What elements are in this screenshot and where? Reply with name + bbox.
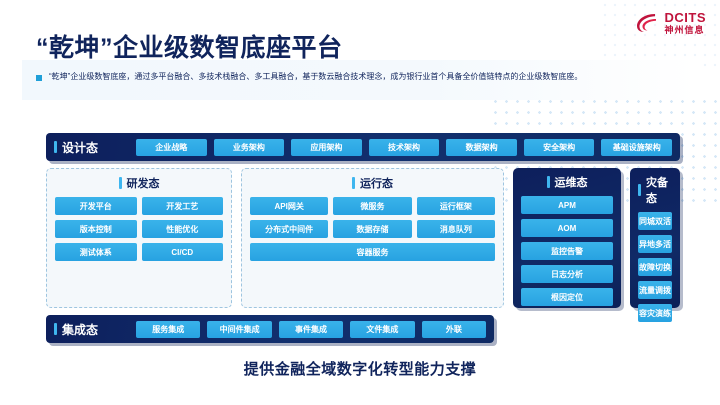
dev-panel-grid: 开发平台 开发工艺 版本控制 性能优化 测试体系 CI/CD bbox=[55, 197, 223, 261]
accent-tick-icon bbox=[54, 141, 57, 153]
dr-panel-stack: 同城双活 异地多活 故障切换 流量调拨 容灾演练 bbox=[638, 212, 672, 322]
dr-cell-0[interactable]: 同城双活 bbox=[638, 212, 672, 230]
integration-chip-4[interactable]: 外联 bbox=[422, 321, 486, 338]
integration-chip-3[interactable]: 文件集成 bbox=[350, 321, 414, 338]
accent-tick-icon bbox=[638, 184, 641, 196]
design-row: 设计态 企业战略 业务架构 应用架构 技术架构 数据架构 安全架构 基础设施架构 bbox=[46, 133, 680, 161]
ops-panel-title-group: 运维态 bbox=[521, 174, 613, 190]
integration-row-label-group: 集成态 bbox=[54, 321, 136, 338]
run-cell-0[interactable]: API网关 bbox=[250, 197, 328, 215]
design-row-label-group: 设计态 bbox=[54, 139, 136, 156]
run-panel-grid: API网关 微服务 运行框架 分布式中间件 数据存储 消息队列 容器服务 bbox=[250, 197, 495, 261]
dev-panel-title: 研发态 bbox=[127, 175, 160, 191]
run-cell-container-service[interactable]: 容器服务 bbox=[250, 243, 495, 261]
run-panel-title-group: 运行态 bbox=[250, 175, 495, 191]
design-row-label: 设计态 bbox=[62, 139, 98, 156]
run-cell-2[interactable]: 运行框架 bbox=[417, 197, 495, 215]
dcits-swirl-icon bbox=[634, 10, 660, 36]
integration-row: 集成态 服务集成 中间件集成 事件集成 文件集成 外联 bbox=[46, 315, 494, 343]
dr-cell-2[interactable]: 故障切换 bbox=[638, 258, 672, 276]
dr-cell-3[interactable]: 流量调拨 bbox=[638, 281, 672, 299]
integration-row-label: 集成态 bbox=[62, 321, 98, 338]
dev-cell-5[interactable]: CI/CD bbox=[142, 243, 224, 261]
dev-cell-2[interactable]: 版本控制 bbox=[55, 220, 137, 238]
ops-cell-4[interactable]: 根因定位 bbox=[521, 288, 613, 306]
integration-chip-0[interactable]: 服务集成 bbox=[136, 321, 200, 338]
ops-panel-stack: APM AOM 监控告警 日志分析 根因定位 bbox=[521, 196, 613, 306]
middle-section: 研发态 开发平台 开发工艺 版本控制 性能优化 测试体系 CI/CD 运行态 A… bbox=[46, 168, 680, 308]
design-chip-6[interactable]: 基础设施架构 bbox=[601, 139, 672, 156]
design-row-chips: 企业战略 业务架构 应用架构 技术架构 数据架构 安全架构 基础设施架构 bbox=[136, 139, 672, 156]
dev-panel-title-group: 研发态 bbox=[55, 175, 223, 191]
run-panel: 运行态 API网关 微服务 运行框架 分布式中间件 数据存储 消息队列 容器服务 bbox=[241, 168, 504, 308]
ops-cell-3[interactable]: 日志分析 bbox=[521, 265, 613, 283]
design-chip-2[interactable]: 应用架构 bbox=[291, 139, 362, 156]
dev-cell-0[interactable]: 开发平台 bbox=[55, 197, 137, 215]
run-cell-1[interactable]: 微服务 bbox=[333, 197, 411, 215]
ops-cell-2[interactable]: 监控告警 bbox=[521, 242, 613, 260]
logo-text-cn: 神州信息 bbox=[665, 26, 707, 35]
ops-cell-1[interactable]: AOM bbox=[521, 219, 613, 237]
integration-chip-1[interactable]: 中间件集成 bbox=[207, 321, 271, 338]
design-chip-5[interactable]: 安全架构 bbox=[524, 139, 595, 156]
design-chip-3[interactable]: 技术架构 bbox=[369, 139, 440, 156]
run-cell-3[interactable]: 分布式中间件 bbox=[250, 220, 328, 238]
page-title: “乾坤”企业级数智底座平台 bbox=[36, 28, 343, 64]
logo-text-en: DCITS bbox=[665, 11, 707, 24]
dr-panel-title-group: 灾备态 bbox=[638, 174, 672, 206]
design-chip-4[interactable]: 数据架构 bbox=[446, 139, 517, 156]
subtitle-text: “乾坤”企业级数智底座，通过多平台融合、多技术栈融合、多工具融合，基于数云融合技… bbox=[49, 72, 582, 83]
design-chip-0[interactable]: 企业战略 bbox=[136, 139, 207, 156]
subtitle-row: “乾坤”企业级数智底座，通过多平台融合、多技术栈融合、多工具融合，基于数云融合技… bbox=[36, 72, 696, 83]
run-cell-4[interactable]: 数据存储 bbox=[333, 220, 411, 238]
accent-tick-icon bbox=[352, 177, 355, 189]
accent-tick-icon bbox=[54, 323, 57, 335]
architecture-diagram: 设计态 企业战略 业务架构 应用架构 技术架构 数据架构 安全架构 基础设施架构… bbox=[46, 133, 680, 343]
dr-panel-title: 灾备态 bbox=[646, 174, 672, 206]
accent-tick-icon bbox=[547, 176, 550, 188]
design-chip-1[interactable]: 业务架构 bbox=[214, 139, 285, 156]
dev-cell-4[interactable]: 测试体系 bbox=[55, 243, 137, 261]
ops-panel: 运维态 APM AOM 监控告警 日志分析 根因定位 bbox=[513, 168, 621, 308]
accent-tick-icon bbox=[119, 177, 122, 189]
dr-cell-4[interactable]: 容灾演练 bbox=[638, 304, 672, 322]
dev-cell-1[interactable]: 开发工艺 bbox=[142, 197, 224, 215]
dev-panel: 研发态 开发平台 开发工艺 版本控制 性能优化 测试体系 CI/CD bbox=[46, 168, 232, 308]
dr-panel: 灾备态 同城双活 异地多活 故障切换 流量调拨 容灾演练 bbox=[630, 168, 680, 308]
integration-chip-2[interactable]: 事件集成 bbox=[279, 321, 343, 338]
run-panel-title: 运行态 bbox=[360, 175, 393, 191]
integration-row-chips: 服务集成 中间件集成 事件集成 文件集成 外联 bbox=[136, 321, 486, 338]
dr-cell-1[interactable]: 异地多活 bbox=[638, 235, 672, 253]
run-cell-5[interactable]: 消息队列 bbox=[417, 220, 495, 238]
footer-caption: 提供金融全域数字化转型能力支撑 bbox=[0, 358, 720, 379]
dev-cell-3[interactable]: 性能优化 bbox=[142, 220, 224, 238]
brand-logo: DCITS 神州信息 bbox=[634, 10, 707, 36]
ops-panel-title: 运维态 bbox=[555, 174, 588, 190]
square-bullet-icon bbox=[36, 75, 42, 81]
ops-cell-0[interactable]: APM bbox=[521, 196, 613, 214]
